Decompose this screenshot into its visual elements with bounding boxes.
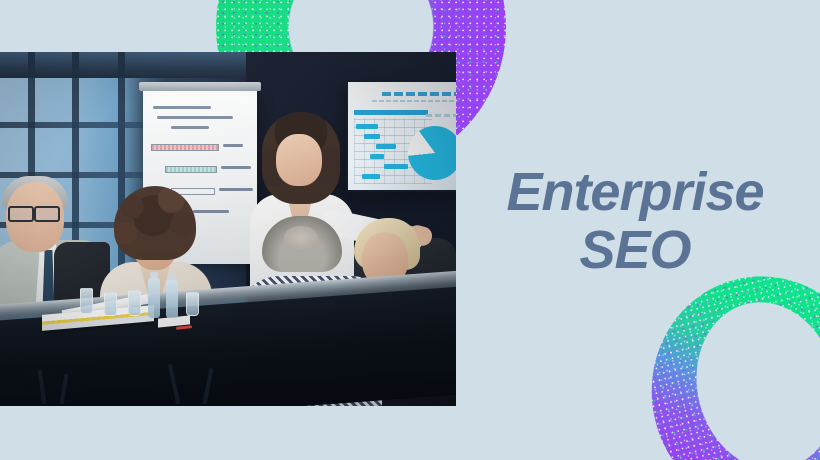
torus-gradient (627, 252, 820, 460)
page-title: Enterprise SEO (470, 164, 800, 280)
meeting-photo (0, 52, 456, 406)
photo-vignette (0, 52, 456, 406)
title-line-2: SEO (470, 222, 800, 280)
torus-shape-icon (627, 252, 820, 460)
slide-canvas: Enterprise SEO (0, 0, 820, 460)
title-line-1: Enterprise (470, 164, 800, 222)
